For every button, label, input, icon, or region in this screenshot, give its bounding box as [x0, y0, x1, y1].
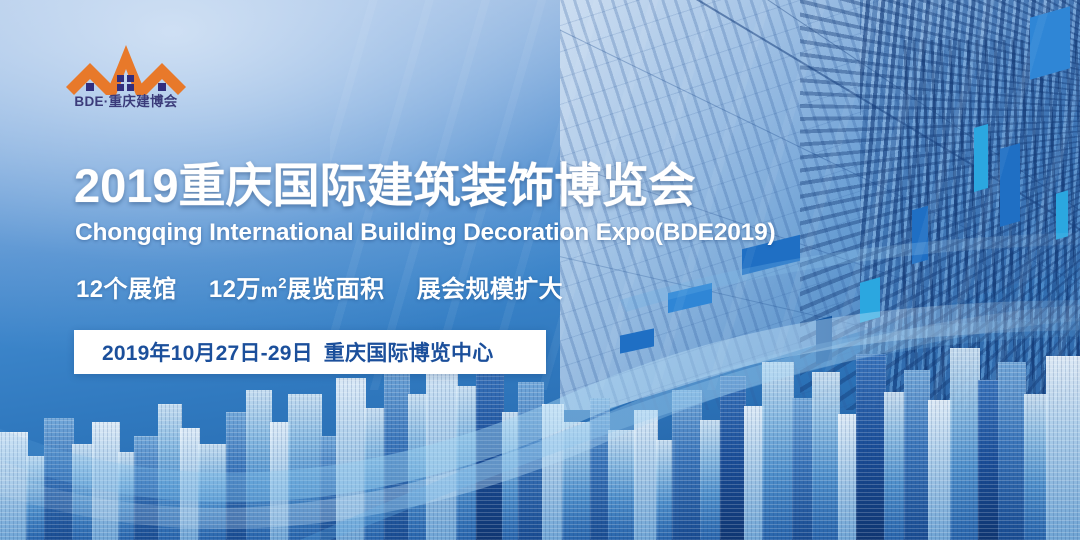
event-venue: 重庆国际博览中心 [324, 342, 494, 365]
logo-wordmark: BDE·重庆建博会 [62, 90, 190, 110]
page-subtitle: Chongqing International Building Decorat… [75, 219, 776, 247]
expo-banner: BDE·重庆建博会 2019重庆国际建筑装饰博览会 Chongqing Inte… [0, 0, 1080, 540]
date-venue-plate: 2019年10月27日-29日重庆国际博览中心 [74, 330, 546, 374]
page-title: 2019重庆国际建筑装饰博览会 [74, 160, 696, 213]
feature-scale: 展会规模扩大 [417, 276, 563, 303]
feature-area-text: 展览面积 [287, 276, 385, 303]
event-date: 2019年10月27日-29日 [102, 342, 313, 365]
feature-area-unit: m [261, 281, 278, 302]
features-line: 12个展馆 12万m2展览面积 展会规模扩大 [76, 269, 563, 304]
logo[interactable]: BDE·重庆建博会 [62, 33, 190, 111]
banner-content: BDE·重庆建博会 2019重庆国际建筑装饰博览会 Chongqing Inte… [0, 0, 1080, 540]
feature-area-number: 12万 [209, 276, 261, 303]
feature-halls: 12个展馆 [76, 276, 177, 303]
feature-area-superscript: 2 [278, 276, 287, 292]
date-venue-text: 2019年10月27日-29日重庆国际博览中心 [102, 337, 493, 367]
